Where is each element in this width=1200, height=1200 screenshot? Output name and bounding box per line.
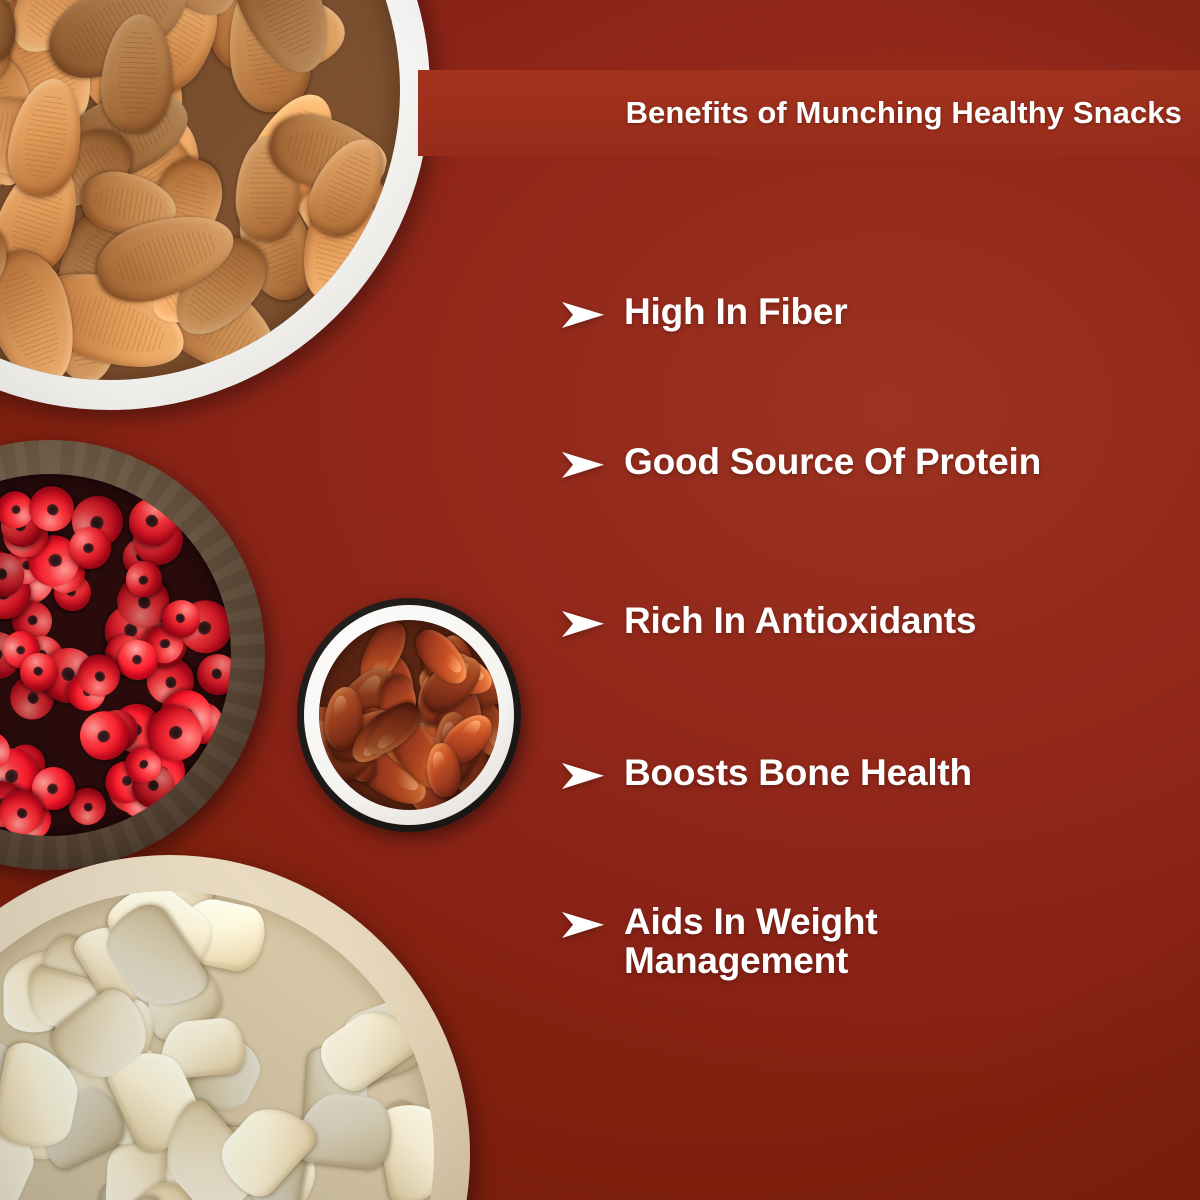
arrowhead-bullet-icon (560, 908, 606, 942)
almond-bowl-contents (0, 0, 400, 380)
berry-bowl-image (0, 440, 265, 870)
benefit-item: Boosts Bone Health (560, 753, 972, 793)
arrowhead-bullet-icon (560, 298, 606, 332)
arrowhead-bullet-icon (560, 448, 606, 482)
cashew-bowl-image (0, 855, 470, 1200)
benefit-label: Good Source Of Protein (624, 442, 1041, 481)
benefit-label: Aids In WeightManagement (624, 902, 877, 980)
benefit-label: High In Fiber (624, 292, 848, 331)
title-banner: Benefits of Munching Healthy Snacks (418, 70, 1200, 156)
benefit-label: Boosts Bone Health (624, 753, 972, 792)
date-bowl-contents (319, 620, 499, 810)
date-bowl-image (297, 598, 521, 832)
page-title: Benefits of Munching Healthy Snacks (626, 95, 1182, 131)
infographic-poster: Benefits of Munching Healthy Snacks High… (0, 0, 1200, 1200)
benefits-list: High In FiberGood Source Of ProteinRich … (560, 250, 1200, 1030)
benefit-item: High In Fiber (560, 292, 848, 332)
benefit-item: Aids In WeightManagement (560, 902, 877, 980)
benefit-item: Rich In Antioxidants (560, 601, 976, 641)
arrowhead-bullet-icon (560, 759, 606, 793)
arrowhead-bullet-icon (560, 607, 606, 641)
almond-bowl-image (0, 0, 430, 410)
benefit-label: Rich In Antioxidants (624, 601, 976, 640)
benefit-item: Good Source Of Protein (560, 442, 1041, 482)
benefit-label-line2: Management (624, 941, 877, 980)
